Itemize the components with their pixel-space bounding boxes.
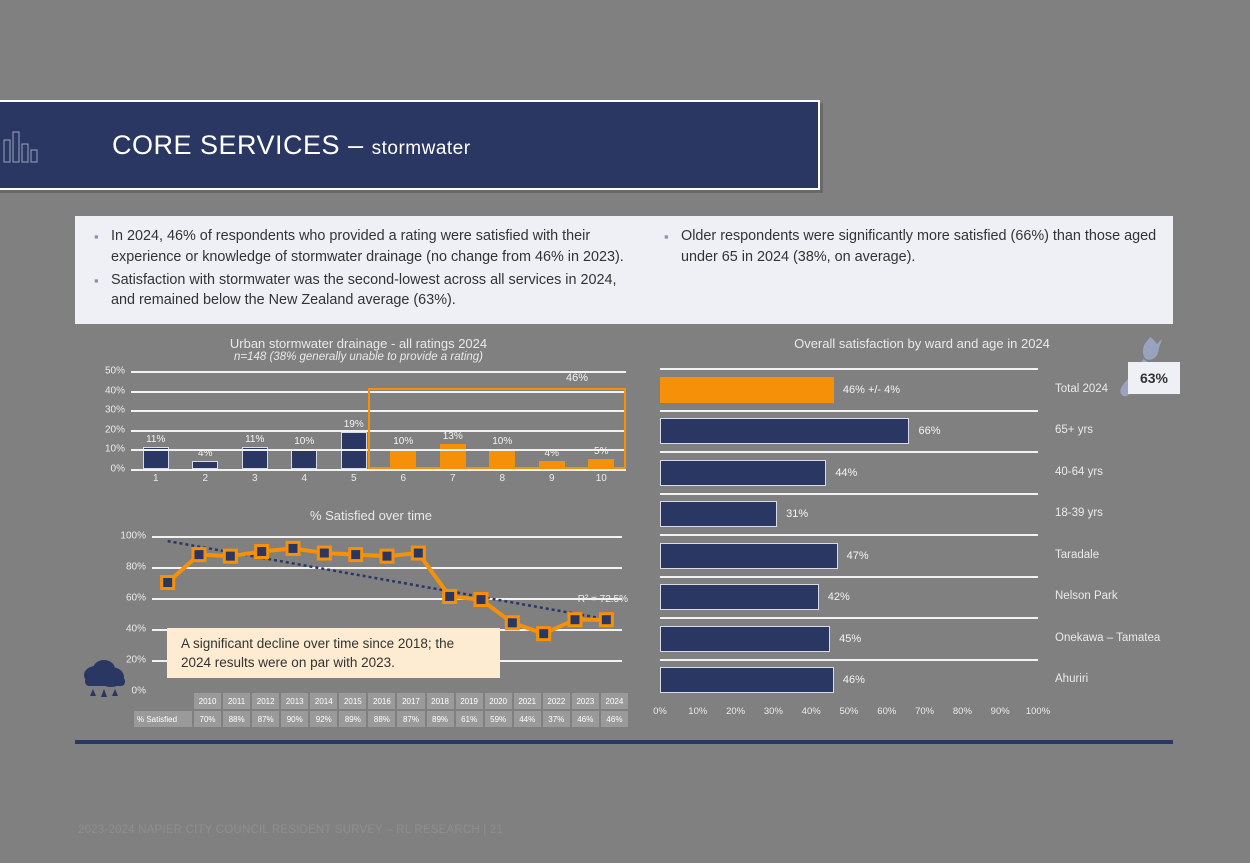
- chart1-bar: [192, 461, 218, 469]
- table-row: 2010201120122013201420152016201720182019…: [134, 693, 628, 709]
- chart2-marker: [162, 577, 174, 589]
- chart3-x-tick-label: 10%: [688, 706, 707, 717]
- table-row: % Satisfied70%88%87%90%92%89%88%87%89%61…: [134, 711, 628, 727]
- chart1-bar: [291, 449, 317, 469]
- table-header-cell: 2017: [397, 693, 424, 709]
- chart1-x-tick-label: 4: [280, 473, 330, 484]
- table-cell: 87%: [397, 711, 424, 727]
- chart1-x-tick-label: 2: [181, 473, 231, 484]
- chart2-marker: [538, 628, 550, 640]
- chart1-y-tick-label: 50%: [105, 366, 125, 377]
- slide: CORE SERVICES – stormwater ▪ In 2024, 46…: [0, 0, 1250, 863]
- bullet-marker-icon: ▪: [91, 270, 111, 312]
- chart3-x-axis: 0%10%20%30%40%50%60%70%80%90%100%: [660, 706, 1038, 720]
- chart3-category-label: Taradale: [1055, 549, 1099, 561]
- chart1-x-axis: 12345678910: [131, 473, 626, 484]
- chart3-bar-value-label: 42%: [828, 591, 850, 603]
- table-header-cell: 2016: [368, 693, 395, 709]
- chart3-x-tick-label: 70%: [915, 706, 934, 717]
- chart3-category-label: 65+ yrs: [1055, 424, 1093, 436]
- footer-text: 2023-2024 NAPIER CITY COUNCIL RESIDENT S…: [78, 824, 503, 836]
- chart3-bar-row: 31%: [660, 493, 1038, 535]
- bullet-item: ▪ Satisfaction with stormwater was the s…: [91, 270, 625, 312]
- chart3-category-label: 18-39 yrs: [1055, 507, 1103, 519]
- chart3-bar: [660, 418, 909, 444]
- chart3-category-label: 40-64 yrs: [1055, 466, 1103, 478]
- chart2-marker: [224, 550, 236, 562]
- table-cell: 44%: [514, 711, 541, 727]
- title-main: CORE SERVICES: [112, 130, 340, 160]
- chart1-bar-group: 4%: [181, 371, 231, 469]
- title-banner: CORE SERVICES – stormwater: [0, 100, 820, 190]
- chart3-x-tick-label: 80%: [953, 706, 972, 717]
- chart3-x-tick-label: 60%: [877, 706, 896, 717]
- chart2-marker: [412, 547, 424, 559]
- chart1-y-tick-label: 30%: [105, 405, 125, 416]
- chart3-bar-value-label: 66%: [918, 425, 940, 437]
- table-corner-cell: [134, 693, 192, 709]
- chart1-bar-value-label: 11%: [245, 434, 264, 445]
- chart1-bar-value-label: 10%: [294, 436, 314, 447]
- table-cell: 88%: [223, 711, 250, 727]
- chart1-y-tick-label: 10%: [105, 444, 125, 455]
- table-header-cell: 2010: [194, 693, 221, 709]
- table-cell: 61%: [456, 711, 483, 727]
- bullet-item: ▪ Older respondents were significantly m…: [661, 226, 1161, 268]
- chart1-x-tick-label: 8: [478, 473, 528, 484]
- table-cell: 89%: [339, 711, 366, 727]
- chart3-bar: [660, 626, 830, 652]
- bullets-column-right: ▪ Older respondents were significantly m…: [637, 216, 1173, 324]
- chart1-gridline: [131, 371, 626, 373]
- chart1-y-tick-label: 20%: [105, 424, 125, 435]
- table-cell: 92%: [310, 711, 337, 727]
- chart2-marker: [318, 547, 330, 559]
- chart1-bar-value-label: 19%: [344, 419, 364, 430]
- chart3-bar-value-label: 31%: [786, 508, 808, 520]
- chart3-bar-value-label: 47%: [847, 550, 869, 562]
- chart1-x-tick-label: 3: [230, 473, 280, 484]
- chart1-net-label: 46%: [566, 372, 588, 384]
- table-header-cell: 2013: [281, 693, 308, 709]
- chart2-data-table: 2010201120122013201420152016201720182019…: [132, 691, 630, 729]
- chart3-bar-row: 44%: [660, 451, 1038, 493]
- table-cell: 88%: [368, 711, 395, 727]
- chart2-trend-label: R² = 72.5%: [578, 594, 628, 605]
- chart2-marker: [444, 590, 456, 602]
- title-subtitle: stormwater: [372, 138, 471, 159]
- chart1-net-highlight-box: [368, 388, 626, 469]
- chart3-bar: [660, 667, 834, 693]
- chart3-bar-row: 46%: [660, 659, 1038, 701]
- table-header-cell: 2023: [572, 693, 599, 709]
- chart2-y-tick-label: 60%: [126, 593, 146, 604]
- bullet-text: In 2024, 46% of respondents who provided…: [111, 226, 625, 268]
- table-cell: 87%: [252, 711, 279, 727]
- chart3-x-tick-label: 40%: [802, 706, 821, 717]
- page-title: CORE SERVICES – stormwater: [112, 130, 471, 161]
- chart1-gridline: [131, 469, 626, 471]
- chart3-bar-row: 42%: [660, 576, 1038, 618]
- chart1-bar-group: 10%: [280, 371, 330, 469]
- table-cell: 89%: [427, 711, 454, 727]
- bullets-panel: ▪ In 2024, 46% of respondents who provid…: [75, 216, 1173, 324]
- table-cell: 46%: [601, 711, 628, 727]
- table-header-cell: 2020: [485, 693, 512, 709]
- chart1-x-tick-label: 6: [379, 473, 429, 484]
- chart2-title: % Satisfied over time: [112, 508, 630, 523]
- bullet-marker-icon: ▪: [91, 226, 111, 268]
- chart2-y-tick-label: 40%: [126, 624, 146, 635]
- chart2-y-tick-label: 80%: [126, 562, 146, 573]
- table-header-cell: 2024: [601, 693, 628, 709]
- chart3-category-label: Total 2024: [1055, 383, 1108, 395]
- table-header-cell: 2011: [223, 693, 250, 709]
- table-cell: 59%: [485, 711, 512, 727]
- callout-box: A significant decline over time since 20…: [167, 628, 500, 678]
- chart3-category-label: Onekawa – Tamatea: [1055, 632, 1160, 644]
- chart3-category-label: Nelson Park: [1055, 590, 1118, 602]
- chart2-marker: [600, 614, 612, 626]
- chart3-category-label: Ahuriri: [1055, 673, 1088, 685]
- nz-average-value: 63%: [1140, 370, 1168, 386]
- chart3-bar-value-label: 44%: [835, 467, 857, 479]
- chart3-bar-row: 66%: [660, 410, 1038, 452]
- chart3-x-tick-label: 50%: [839, 706, 858, 717]
- chart3-bar-row: 47%: [660, 534, 1038, 576]
- cloud-rain-icon: [80, 653, 132, 699]
- chart1-subtitle: n=148 (38% generally unable to provide a…: [86, 351, 631, 363]
- chart1-x-tick-label: 9: [527, 473, 577, 484]
- chart1-bar-group: 11%: [230, 371, 280, 469]
- chart2-y-tick-label: 100%: [120, 531, 146, 542]
- bullet-text: Older respondents were significantly mor…: [681, 226, 1161, 268]
- chart2-marker: [569, 614, 581, 626]
- bullet-item: ▪ In 2024, 46% of respondents who provid…: [91, 226, 625, 268]
- chart3-bar-row: 46% +/- 4%: [660, 368, 1038, 410]
- chart2-marker: [256, 546, 268, 558]
- nz-average-badge: 63%: [1128, 362, 1180, 394]
- chart-satisfied-over-time: % Satisfied over time 100%80%60%40%20%0%…: [112, 508, 630, 728]
- chart1-y-tick-label: 40%: [105, 385, 125, 396]
- chart3-bar-value-label: 45%: [839, 633, 861, 645]
- table-cell: 70%: [194, 711, 221, 727]
- chart1-y-tick-label: 0%: [111, 464, 125, 475]
- chart3-bar-row: 45%: [660, 617, 1038, 659]
- table-header-cell: 2022: [543, 693, 570, 709]
- chart1-x-tick-label: 5: [329, 473, 379, 484]
- table-cell: 90%: [281, 711, 308, 727]
- chart3-x-tick-label: 30%: [764, 706, 783, 717]
- title-separator: –: [340, 130, 372, 160]
- chart2-marker: [381, 550, 393, 562]
- table-header-cell: 2015: [339, 693, 366, 709]
- chart2-marker: [350, 549, 362, 561]
- table-cell: 46%: [572, 711, 599, 727]
- table-header-cell: 2018: [427, 693, 454, 709]
- chart2-marker: [193, 549, 205, 561]
- footer-divider: [75, 740, 1173, 744]
- table-row-header: % Satisfied: [134, 711, 192, 727]
- chart3-plot-area: 46% +/- 4%Total 202466%65+ yrs44%40-64 y…: [660, 368, 1038, 703]
- chart1-x-tick-label: 7: [428, 473, 478, 484]
- table-header-cell: 2012: [252, 693, 279, 709]
- chart3-x-tick-label: 100%: [1026, 706, 1050, 717]
- chart3-bar: [660, 501, 777, 527]
- chart1-x-tick-label: 10: [577, 473, 627, 484]
- chart3-x-tick-label: 0%: [653, 706, 667, 717]
- table-header-cell: 2014: [310, 693, 337, 709]
- chart3-bar-value-label: 46%: [843, 674, 865, 686]
- chart3-bar: [660, 460, 826, 486]
- bullet-marker-icon: ▪: [661, 226, 681, 268]
- table-cell: 37%: [543, 711, 570, 727]
- chart3-x-tick-label: 20%: [726, 706, 745, 717]
- chart-ratings-2024: Urban stormwater drainage - all ratings …: [86, 336, 631, 504]
- chart3-bar-value-label: 46% +/- 4%: [843, 384, 900, 396]
- chart2-marker: [287, 542, 299, 554]
- chart1-bar-group: 11%: [131, 371, 181, 469]
- chart1-title: Urban stormwater drainage - all ratings …: [86, 336, 631, 351]
- chart1-x-tick-label: 1: [131, 473, 181, 484]
- bullets-column-left: ▪ In 2024, 46% of respondents who provid…: [75, 216, 637, 324]
- chart3-x-tick-label: 90%: [991, 706, 1010, 717]
- table-header-cell: 2021: [514, 693, 541, 709]
- chart1-bar-value-label: 11%: [146, 434, 165, 445]
- callout-text: A significant decline over time since 20…: [181, 634, 486, 672]
- chart3-bar: [660, 543, 838, 569]
- bullet-text: Satisfaction with stormwater was the sec…: [111, 270, 625, 312]
- table-header-cell: 2019: [456, 693, 483, 709]
- bar-chart-icon: [0, 122, 50, 170]
- chart2-marker: [475, 594, 487, 606]
- chart3-bar: [660, 377, 834, 403]
- chart2-marker: [506, 617, 518, 629]
- chart3-bar: [660, 584, 819, 610]
